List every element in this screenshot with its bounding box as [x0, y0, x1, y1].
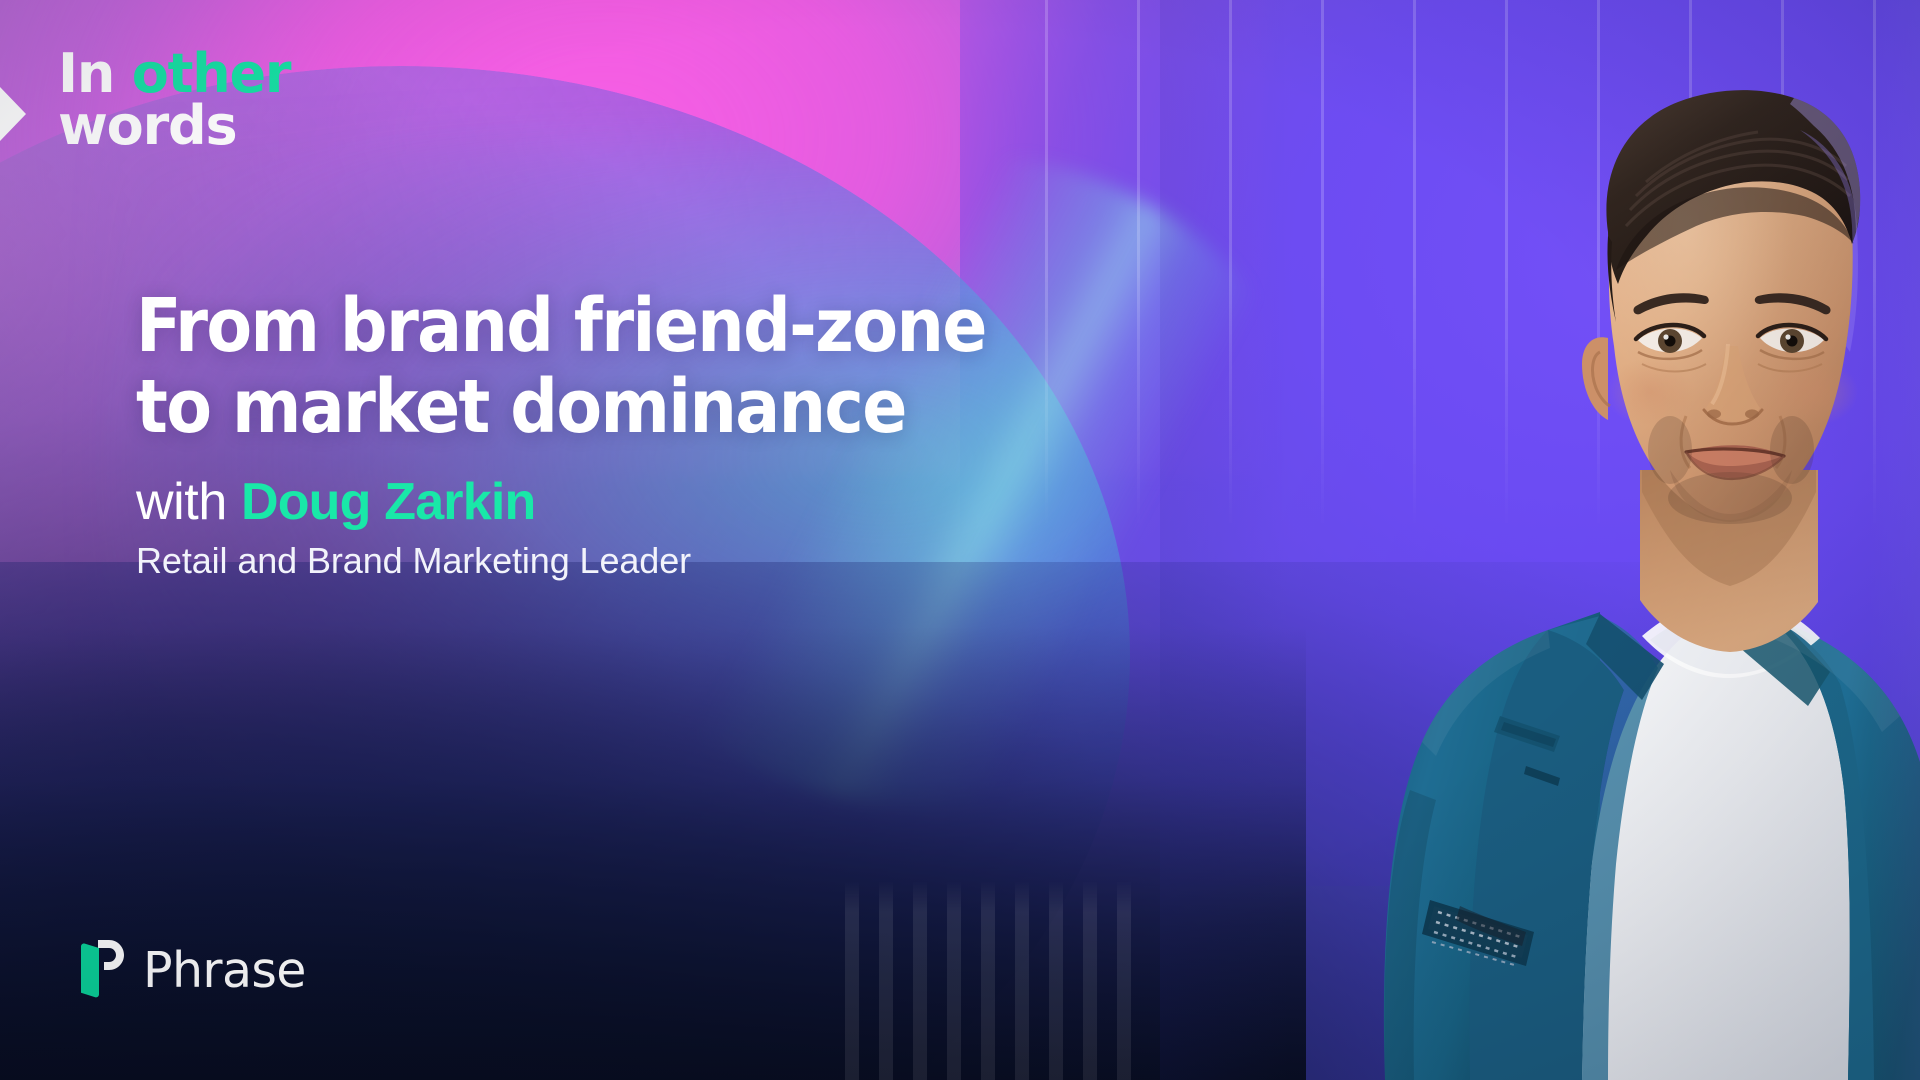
decorative-stripes-bottom	[845, 880, 1135, 1080]
phrase-brand-logo: Phrase	[78, 937, 306, 1004]
episode-copy: From brand friend-zone to market dominan…	[136, 286, 1096, 582]
guest-portrait	[1160, 0, 1920, 1080]
phrase-logo-icon	[78, 937, 124, 1004]
chevron-right-icon	[0, 58, 30, 170]
guest-with-label: with	[136, 473, 227, 531]
guest-credit: with Doug Zarkin	[136, 473, 1096, 531]
guest-name: Doug Zarkin	[241, 473, 536, 531]
show-logo-word-words: words	[58, 100, 290, 152]
phrase-wordmark: Phrase	[143, 942, 306, 999]
guest-role: Retail and Brand Marketing Leader	[136, 539, 1096, 582]
headline-line-2: to market dominance	[136, 367, 1096, 448]
podcast-episode-cover: In other words	[0, 0, 1920, 1080]
show-logo: In other words	[58, 48, 290, 152]
headline-line-1: From brand friend-zone	[136, 286, 1096, 367]
page-title: From brand friend-zone to market dominan…	[136, 286, 1096, 447]
